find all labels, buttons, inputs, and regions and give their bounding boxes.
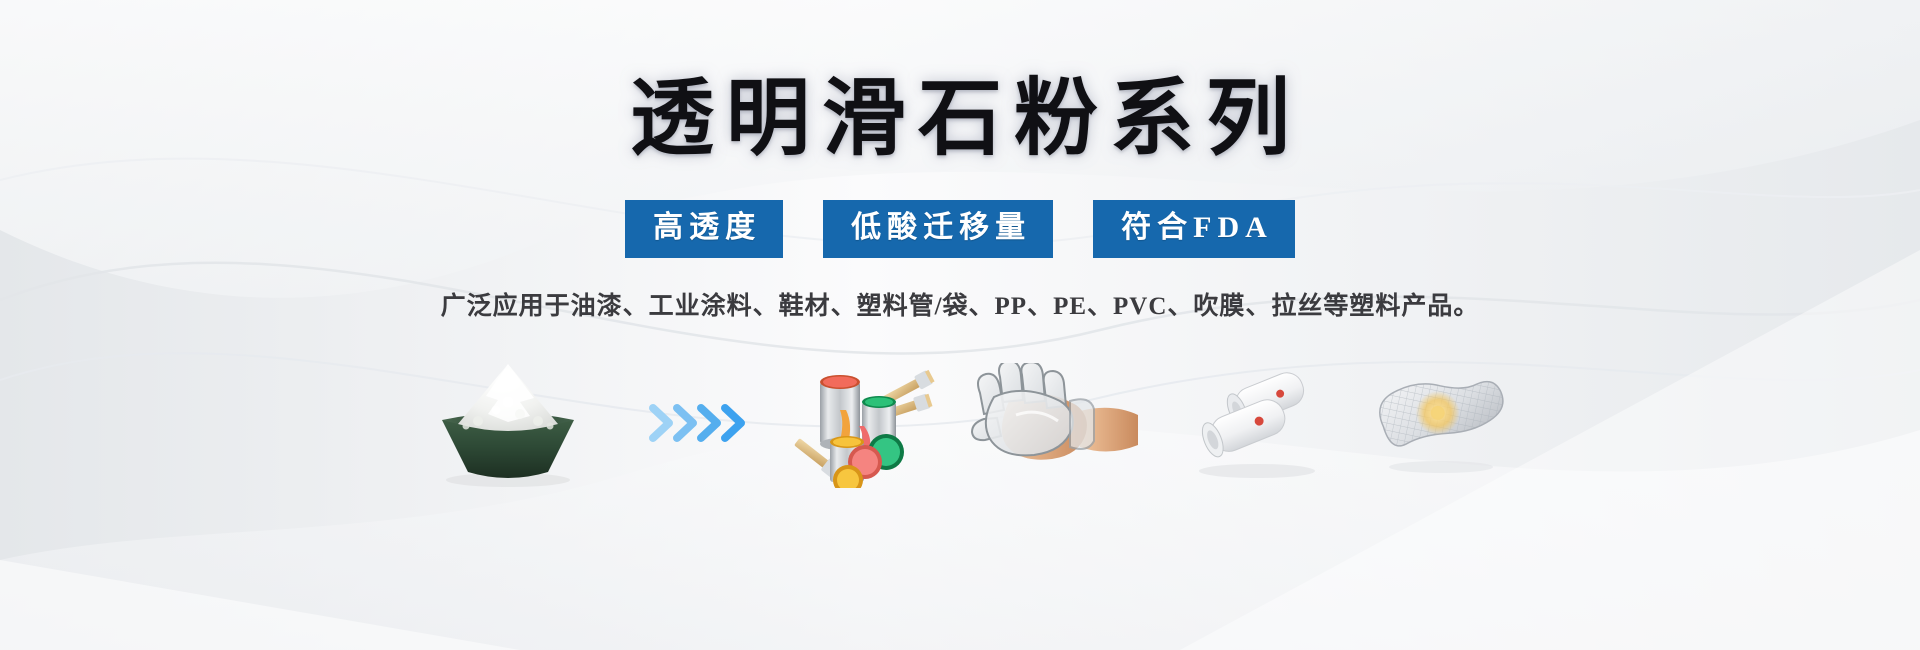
paint-cans-image — [786, 358, 936, 488]
process-arrows-icon — [642, 358, 752, 488]
gloved-hand-image — [970, 358, 1145, 488]
product-banner: 透明滑石粉系列 高透度 低酸迁移量 符合FDA 广泛应用于油漆、工业涂料、鞋材、… — [0, 0, 1920, 650]
banner-content: 透明滑石粉系列 高透度 低酸迁移量 符合FDA 广泛应用于油漆、工业涂料、鞋材、… — [0, 0, 1920, 650]
feature-badge-list: 高透度 低酸迁移量 符合FDA — [625, 200, 1295, 258]
feature-badge-high-transparency: 高透度 — [625, 200, 783, 258]
film-rolls-image — [1179, 358, 1329, 488]
talc-powder-bowl-image — [408, 358, 608, 488]
application-description: 广泛应用于油漆、工业涂料、鞋材、塑料管/袋、PP、PE、PVC、吹膜、拉丝等塑料… — [441, 294, 1480, 319]
shoe-sole-image — [1363, 358, 1513, 488]
feature-badge-fda-compliant: 符合FDA — [1093, 200, 1295, 258]
page-title: 透明滑石粉系列 — [618, 78, 1302, 162]
feature-badge-low-acid-migration: 低酸迁移量 — [823, 200, 1053, 258]
product-image-strip — [0, 358, 1920, 488]
